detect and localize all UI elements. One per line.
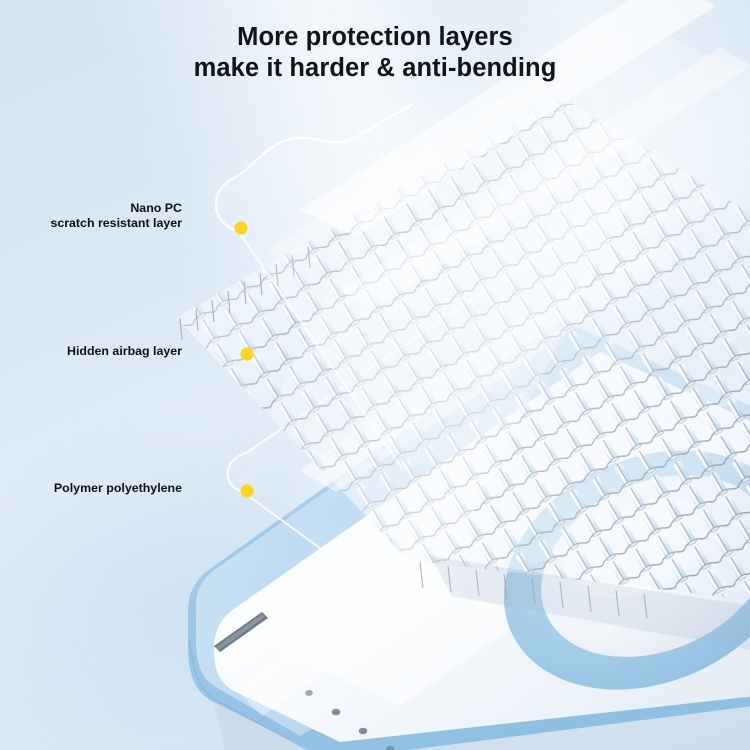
callout-label-line-1: Polymer polyethylene bbox=[16, 481, 182, 496]
callout-label-line-2: scratch resistant layer bbox=[16, 216, 182, 231]
callout-label-hidden-airbag-layer: Hidden airbag layer bbox=[16, 344, 182, 359]
product-feature-image: More protection layers make it harder & … bbox=[0, 0, 750, 750]
callout-dot-nano-pc[interactable] bbox=[234, 221, 247, 234]
headline-line-2: make it harder & anti-bending bbox=[0, 53, 750, 84]
callout-label-line-1: Hidden airbag layer bbox=[16, 344, 182, 359]
exploded-layers-illustration bbox=[0, 0, 750, 750]
callout-dot-polymer-polyethylene[interactable] bbox=[240, 484, 253, 497]
headline-line-1: More protection layers bbox=[237, 23, 513, 51]
callout-label-line-1: Nano PC bbox=[16, 201, 182, 216]
callout-dot-hidden-airbag[interactable] bbox=[240, 347, 253, 360]
callout-label-nano-pc-scratch-resistant-layer: Nano PC scratch resistant layer bbox=[16, 201, 182, 231]
callout-label-polymer-polyethylene: Polymer polyethylene bbox=[16, 481, 182, 496]
page-title: More protection layers make it harder & … bbox=[0, 22, 750, 84]
